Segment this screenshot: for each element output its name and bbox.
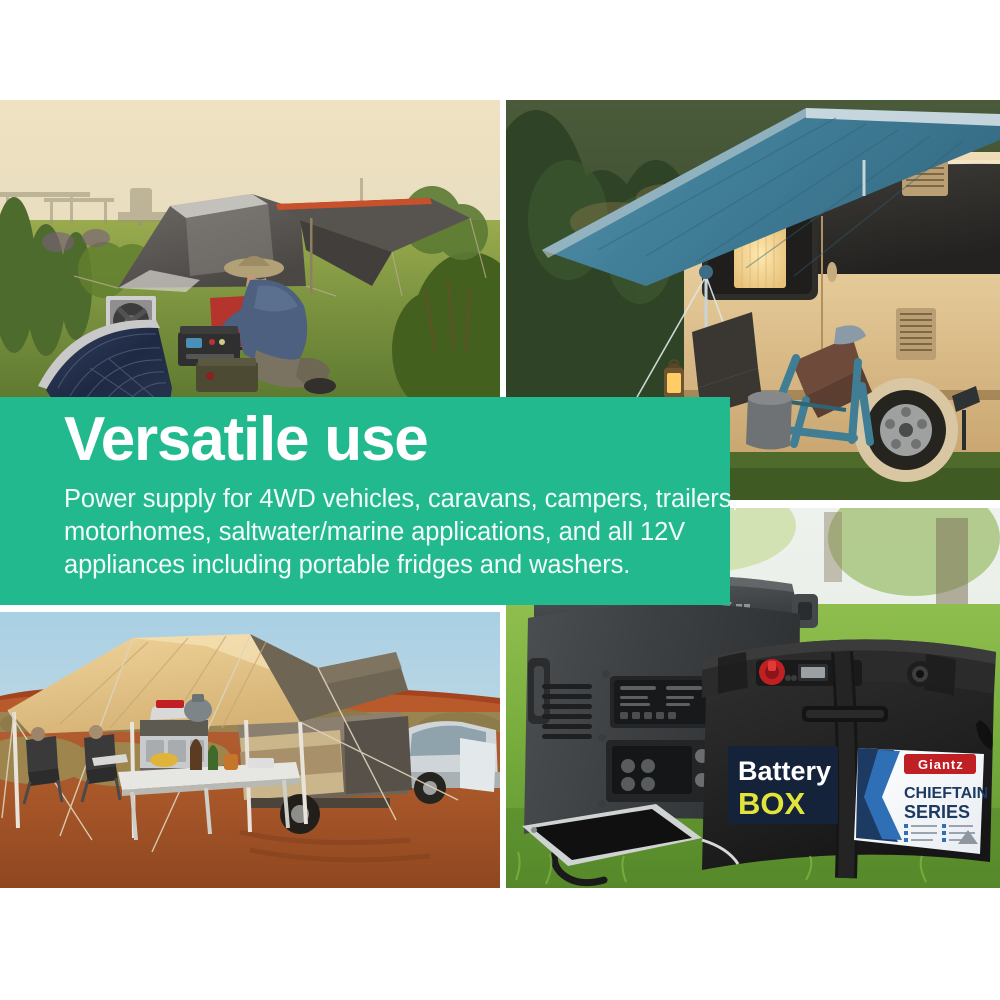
product-lifestyle-poster: Battery BOX Giantz CHIEFTAIN SERIES	[0, 0, 1000, 1000]
callout-body-line-2: motorhomes, saltwater/marine application…	[64, 516, 690, 549]
callout-body-line-1: Power supply for 4WD vehicles, caravans,…	[64, 483, 690, 516]
callout-headline: Versatile use	[64, 409, 428, 471]
battery-box-label-line1: Battery	[738, 756, 831, 786]
photo-camping-solar	[0, 100, 500, 397]
giantz-brand-label: Giantz	[918, 757, 964, 772]
chieftain-series-line2: SERIES	[904, 802, 970, 822]
callout-body: Power supply for 4WD vehicles, caravans,…	[64, 483, 690, 582]
photo-outback-camper-trailer	[0, 612, 500, 888]
callout-panel: Versatile use Power supply for 4WD vehic…	[0, 397, 730, 605]
callout-body-line-3: appliances including portable fridges an…	[64, 549, 690, 582]
battery-box-label-line2: BOX	[738, 786, 806, 821]
chieftain-series-line1: CHIEFTAIN	[904, 785, 988, 802]
